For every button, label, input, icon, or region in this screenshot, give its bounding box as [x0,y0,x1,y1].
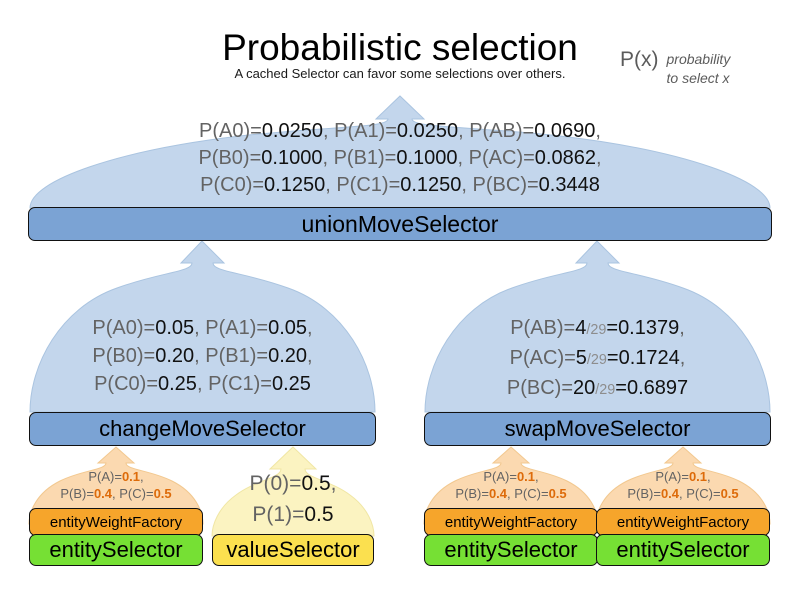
node-swap-move-selector-label: swapMoveSelector [505,416,691,442]
probability-denominator: /29 [595,382,615,398]
probability-numerator: 5 [576,347,587,369]
probability-value: 0.25 [158,373,197,395]
node-entity-weight-factory-1[interactable]: entityWeightFactory [29,508,203,536]
probability-value: 0.0250 [262,120,323,142]
node-change-move-selector-label: changeMoveSelector [99,416,306,442]
probability-separator: , [535,469,539,484]
probability-value: 0.5 [549,486,567,501]
probability-value: 0.4 [661,486,679,501]
probability-key: P(C1)= [208,373,272,395]
probability-line: P(B)=0.4, P(C)=0.5 [596,485,770,502]
node-swap-move-selector[interactable]: swapMoveSelector [424,412,771,446]
probability-equals: = [615,377,627,399]
probability-value: 0.1250 [400,174,461,196]
probability-key: P(AC)= [510,347,576,369]
legend: P(x) probability to select x [620,48,730,86]
node-change-move-selector[interactable]: changeMoveSelector [29,412,376,446]
probability-value: 0.6897 [627,377,688,399]
probability-value: 0.0862 [535,147,596,169]
probability-numerator: 20 [573,377,595,399]
arrow-change-label: P(A0)=0.05, P(A1)=0.05,P(B0)=0.20, P(B1)… [30,314,375,398]
probability-separator: , [323,120,334,142]
probability-value: 0.1000 [396,147,457,169]
probability-value: 0.0250 [397,120,458,142]
probability-line: P(0)=0.5, [212,468,374,499]
probability-value: 0.5 [154,486,172,501]
probability-separator: , [194,317,205,339]
node-entity-selector-2-label: entitySelector [444,537,577,563]
probability-key: P(C1)= [336,174,400,196]
probability-value: 0.4 [94,486,112,501]
probability-denominator: /29 [586,322,606,338]
probability-separator: , [458,120,469,142]
probability-line: P(AC)=5/29=0.1724, [425,344,770,374]
node-entity-weight-factory-2[interactable]: entityWeightFactory [424,508,598,536]
node-entity-weight-factory-3-label: entityWeightFactory [617,514,749,531]
probability-key: P(C)= [514,486,548,501]
node-union-move-selector[interactable]: unionMoveSelector [28,207,772,241]
probability-line: P(A)=0.1, [29,468,203,485]
probability-key: P(AB)= [510,317,575,339]
probability-key: P(B)= [627,486,661,501]
probability-line: P(A)=0.1, [424,468,598,485]
probability-separator: , [595,120,601,142]
arrow-value-selector-label: P(0)=0.5,P(1)=0.5 [212,468,374,530]
node-value-selector-label: valueSelector [226,537,359,563]
probability-value: 0.3448 [539,174,600,196]
legend-desc-line-2: to select x [667,67,731,86]
probability-value: 0.4 [489,486,507,501]
probability-key: P(B0)= [92,345,155,367]
probability-key: P(A)= [483,469,517,484]
probability-separator: , [596,147,602,169]
probability-key: P(C0)= [200,174,264,196]
probability-numerator: 4 [575,317,586,339]
probability-line: P(C0)=0.25, P(C1)=0.25 [30,370,375,398]
probability-separator: , [461,174,472,196]
arrow-entity-weight-left-label: P(A)=0.1,P(B)=0.4, P(C)=0.5 [29,468,203,502]
probability-separator: , [197,373,208,395]
probability-key: P(A0)= [92,317,155,339]
probability-value: 0.5 [301,472,330,495]
arrow-entity-weight-swap-2-label: P(A)=0.1,P(B)=0.4, P(C)=0.5 [596,468,770,502]
node-entity-weight-factory-1-label: entityWeightFactory [50,514,182,531]
probability-separator: , [307,317,313,339]
probability-separator: , [679,317,685,339]
node-entity-selector-3-label: entitySelector [616,537,749,563]
probability-key: P(AC)= [469,147,535,169]
legend-description: probability to select x [667,48,731,86]
probability-key: P(C)= [686,486,720,501]
probability-equals: = [606,317,618,339]
probability-line: P(A0)=0.0250, P(A1)=0.0250, P(AB)=0.0690… [30,118,770,145]
node-value-selector[interactable]: valueSelector [212,534,374,566]
probability-key: P(A1)= [334,120,397,142]
probability-value: 0.05 [155,317,194,339]
probability-separator: , [325,174,336,196]
arrow-entity-weight-swap-1-label: P(A)=0.1,P(B)=0.4, P(C)=0.5 [424,468,598,502]
probability-key: P(A)= [88,469,122,484]
probability-line: P(A)=0.1, [596,468,770,485]
probability-key: P(B1)= [205,345,268,367]
probability-separator: , [322,147,333,169]
probability-key: P(B1)= [334,147,397,169]
probability-key: P(C)= [119,486,153,501]
probability-line: P(B)=0.4, P(C)=0.5 [424,485,598,502]
probability-line: P(B)=0.4, P(C)=0.5 [29,485,203,502]
probability-value: 0.5 [304,503,333,526]
probability-line: P(AB)=4/29=0.1379, [425,314,770,344]
probability-key: P(0)= [250,472,302,495]
probability-key: P(A1)= [205,317,268,339]
probability-value: 0.05 [268,317,307,339]
probability-value: 0.0690 [534,120,595,142]
probability-key: P(1)= [252,503,304,526]
diagram-canvas: Probabilistic selection A cached Selecto… [0,0,800,600]
probability-key: P(BC)= [473,174,539,196]
probability-equals: = [607,347,619,369]
legend-desc-line-1: probability [667,48,731,67]
probability-key: P(A0)= [199,120,262,142]
probability-value: 0.1 [689,469,707,484]
probability-denominator: /29 [587,352,607,368]
probability-key: P(A)= [655,469,689,484]
probability-value: 0.20 [268,345,307,367]
probability-separator: , [307,345,313,367]
probability-line: P(B0)=0.1000, P(B1)=0.1000, P(AC)=0.0862… [30,145,770,172]
node-entity-weight-factory-2-label: entityWeightFactory [445,514,577,531]
legend-key: P(x) [620,48,659,72]
node-entity-selector-2[interactable]: entitySelector [424,534,598,566]
node-entity-selector-3[interactable]: entitySelector [596,534,770,566]
probability-separator: , [707,469,711,484]
probability-separator: , [194,345,205,367]
probability-line: P(A0)=0.05, P(A1)=0.05, [30,314,375,342]
probability-separator: , [680,347,686,369]
probability-value: 0.1000 [261,147,322,169]
probability-key: P(AB)= [469,120,534,142]
probability-line: P(BC)=20/29=0.6897 [425,374,770,404]
probability-separator: , [140,469,144,484]
probability-value: 0.1 [122,469,140,484]
arrow-union-label: P(A0)=0.0250, P(A1)=0.0250, P(AB)=0.0690… [30,118,770,199]
node-entity-selector-1[interactable]: entitySelector [29,534,203,566]
probability-value: 0.1724 [619,347,680,369]
probability-key: P(C0)= [94,373,158,395]
probability-key: P(B)= [60,486,94,501]
probability-separator: , [331,472,337,495]
probability-value: 0.5 [721,486,739,501]
probability-value: 0.25 [272,373,311,395]
probability-key: P(B0)= [198,147,261,169]
probability-line: P(1)=0.5 [212,499,374,530]
probability-key: P(B)= [455,486,489,501]
node-entity-selector-1-label: entitySelector [49,537,182,563]
probability-line: P(B0)=0.20, P(B1)=0.20, [30,342,375,370]
probability-separator: , [458,147,469,169]
probability-value: 0.1379 [618,317,679,339]
probability-value: 0.1 [517,469,535,484]
arrow-swap-label: P(AB)=4/29=0.1379,P(AC)=5/29=0.1724,P(BC… [425,314,770,404]
probability-key: P(BC)= [507,377,573,399]
probability-line: P(C0)=0.1250, P(C1)=0.1250, P(BC)=0.3448 [30,172,770,199]
probability-value: 0.1250 [264,174,325,196]
probability-value: 0.20 [155,345,194,367]
node-entity-weight-factory-3[interactable]: entityWeightFactory [596,508,770,536]
node-union-move-selector-label: unionMoveSelector [302,211,499,238]
